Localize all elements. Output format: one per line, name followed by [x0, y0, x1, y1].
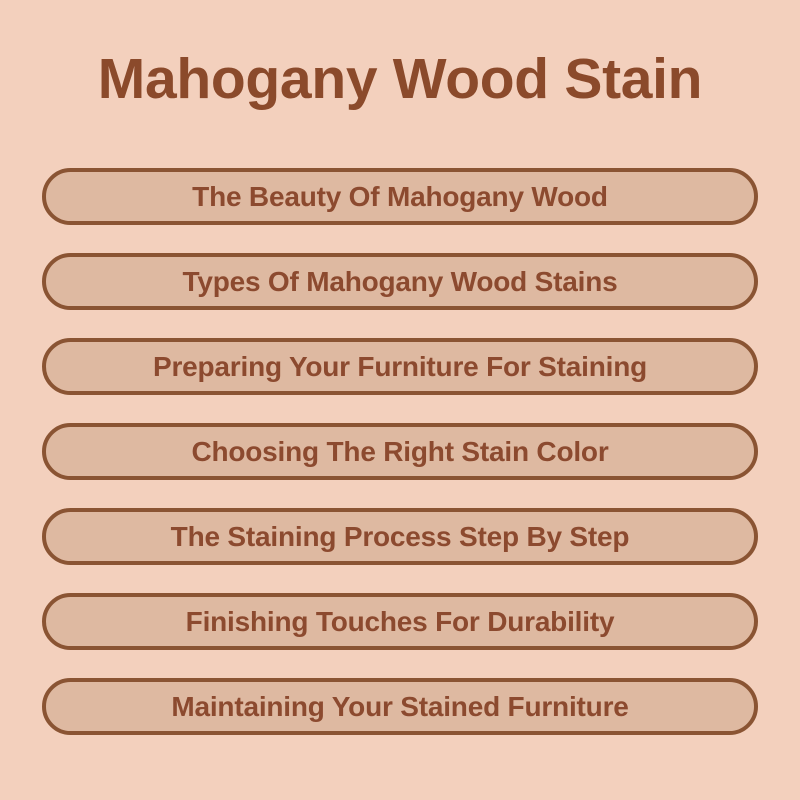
section-list: The Beauty Of Mahogany Wood Types Of Mah…	[42, 168, 758, 735]
section-item-label: Maintaining Your Stained Furniture	[171, 692, 628, 722]
page-title: Mahogany Wood Stain	[0, 48, 800, 110]
section-item-types-of-mahogany-wood-stains[interactable]: Types Of Mahogany Wood Stains	[42, 253, 758, 310]
section-item-label: Preparing Your Furniture For Staining	[153, 352, 647, 382]
section-item-choosing-the-right-stain-color[interactable]: Choosing The Right Stain Color	[42, 423, 758, 480]
section-item-label: Finishing Touches For Durability	[186, 607, 615, 637]
infographic-root: Mahogany Wood Stain The Beauty Of Mahoga…	[0, 0, 800, 800]
section-item-label: The Beauty Of Mahogany Wood	[192, 182, 608, 212]
section-item-label: The Staining Process Step By Step	[171, 522, 630, 552]
section-item-maintaining-your-stained-furniture[interactable]: Maintaining Your Stained Furniture	[42, 678, 758, 735]
section-item-preparing-your-furniture-for-staining[interactable]: Preparing Your Furniture For Staining	[42, 338, 758, 395]
section-item-the-beauty-of-mahogany-wood[interactable]: The Beauty Of Mahogany Wood	[42, 168, 758, 225]
section-item-label: Choosing The Right Stain Color	[191, 437, 608, 467]
section-item-label: Types Of Mahogany Wood Stains	[183, 267, 618, 297]
section-item-finishing-touches-for-durability[interactable]: Finishing Touches For Durability	[42, 593, 758, 650]
section-item-the-staining-process-step-by-step[interactable]: The Staining Process Step By Step	[42, 508, 758, 565]
